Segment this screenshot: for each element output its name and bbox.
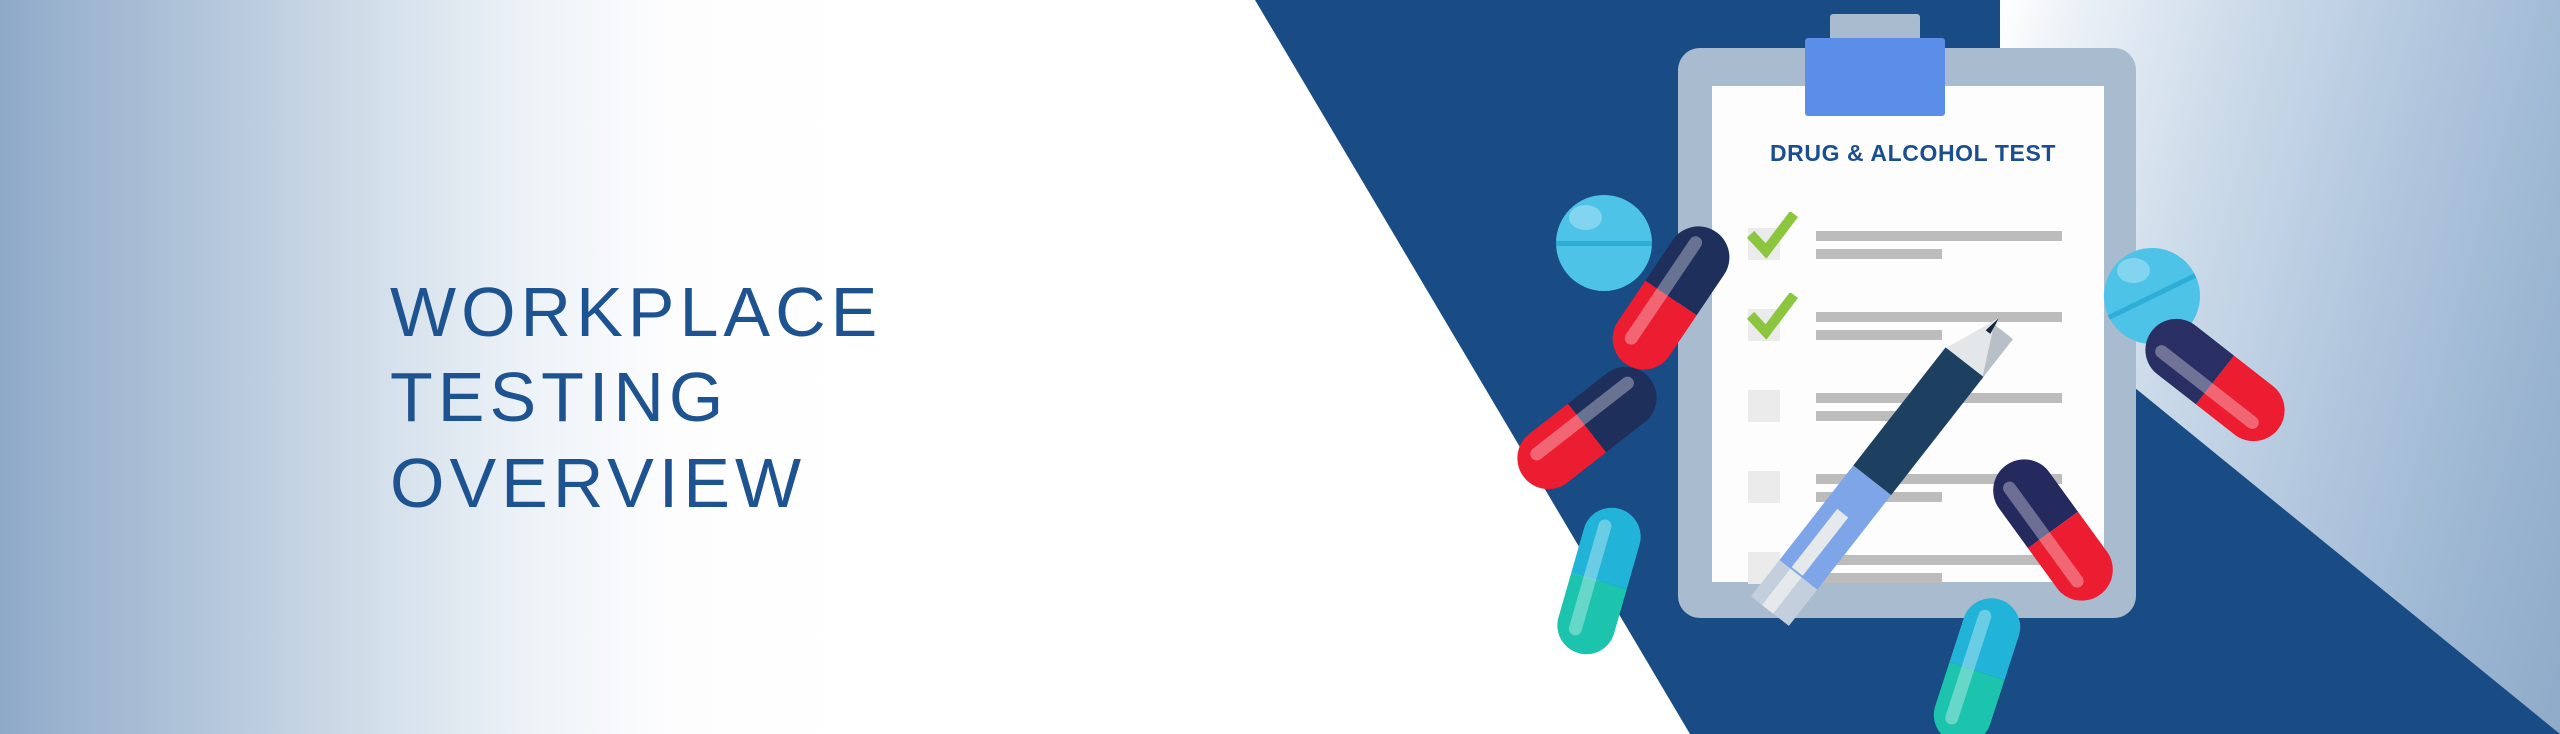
placeholder-line-short <box>1816 330 1942 340</box>
tablet-gloss <box>1569 205 1602 230</box>
placeholder-line-short <box>1816 249 1942 259</box>
checkbox-unchecked[interactable] <box>1748 471 1780 503</box>
checklist-row-text <box>1816 231 2062 259</box>
tablet-score-line <box>1556 241 1652 246</box>
tablet-score-line <box>2108 273 2196 320</box>
tablet-gloss <box>2117 258 2150 283</box>
placeholder-line-long <box>1816 312 2062 322</box>
placeholder-line-long <box>1816 555 2062 565</box>
checklist-row[interactable] <box>1748 222 2088 284</box>
placeholder-line-short <box>1816 573 1942 583</box>
checklist-row-text <box>1816 555 2062 583</box>
placeholder-line-long <box>1816 231 2062 241</box>
document-title: DRUG & ALCOHOL TEST <box>1728 140 2098 167</box>
workplace-testing-banner: WORKPLACE TESTING OVERVIEW DRUG & ALCOHO… <box>0 0 2560 734</box>
checkbox-checked[interactable] <box>1748 309 1780 341</box>
page-title: WORKPLACE TESTING OVERVIEW <box>390 270 1150 526</box>
checklist-row[interactable] <box>1748 303 2088 365</box>
checklist-row-text <box>1816 312 2062 340</box>
clipboard-clip-band <box>1805 38 1945 116</box>
tablet-left-icon <box>1556 195 1652 291</box>
checkbox-unchecked[interactable] <box>1748 390 1780 422</box>
checkbox-checked[interactable] <box>1748 228 1780 260</box>
